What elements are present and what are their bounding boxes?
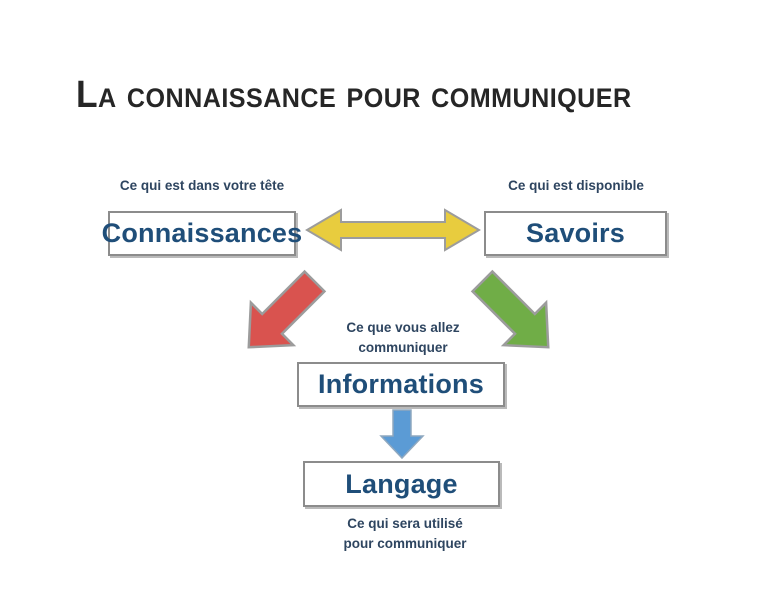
page-title: La connaissance pour communiquer xyxy=(76,74,671,117)
box-connaissances: Connaissances xyxy=(108,211,296,256)
slide-canvas: La connaissance pour communiquer Ce qui … xyxy=(0,0,775,598)
box-langage: Langage xyxy=(303,461,500,507)
arrow-down-icon xyxy=(378,408,426,460)
double-headed-horizontal-arrow-icon xyxy=(305,206,481,254)
box-savoirs: Savoirs xyxy=(484,211,667,256)
caption-savoirs: Ce qui est disponible xyxy=(468,176,684,196)
caption-connaissances: Ce qui est dans votre tête xyxy=(92,176,312,196)
arrow-down-right-icon xyxy=(232,262,332,367)
caption-langage: Ce qui sera utilisé pour communiquer xyxy=(312,514,498,553)
box-informations: Informations xyxy=(297,362,505,407)
arrow-down-left-icon xyxy=(465,262,565,367)
caption-informations: Ce que vous allez communiquer xyxy=(325,318,481,357)
